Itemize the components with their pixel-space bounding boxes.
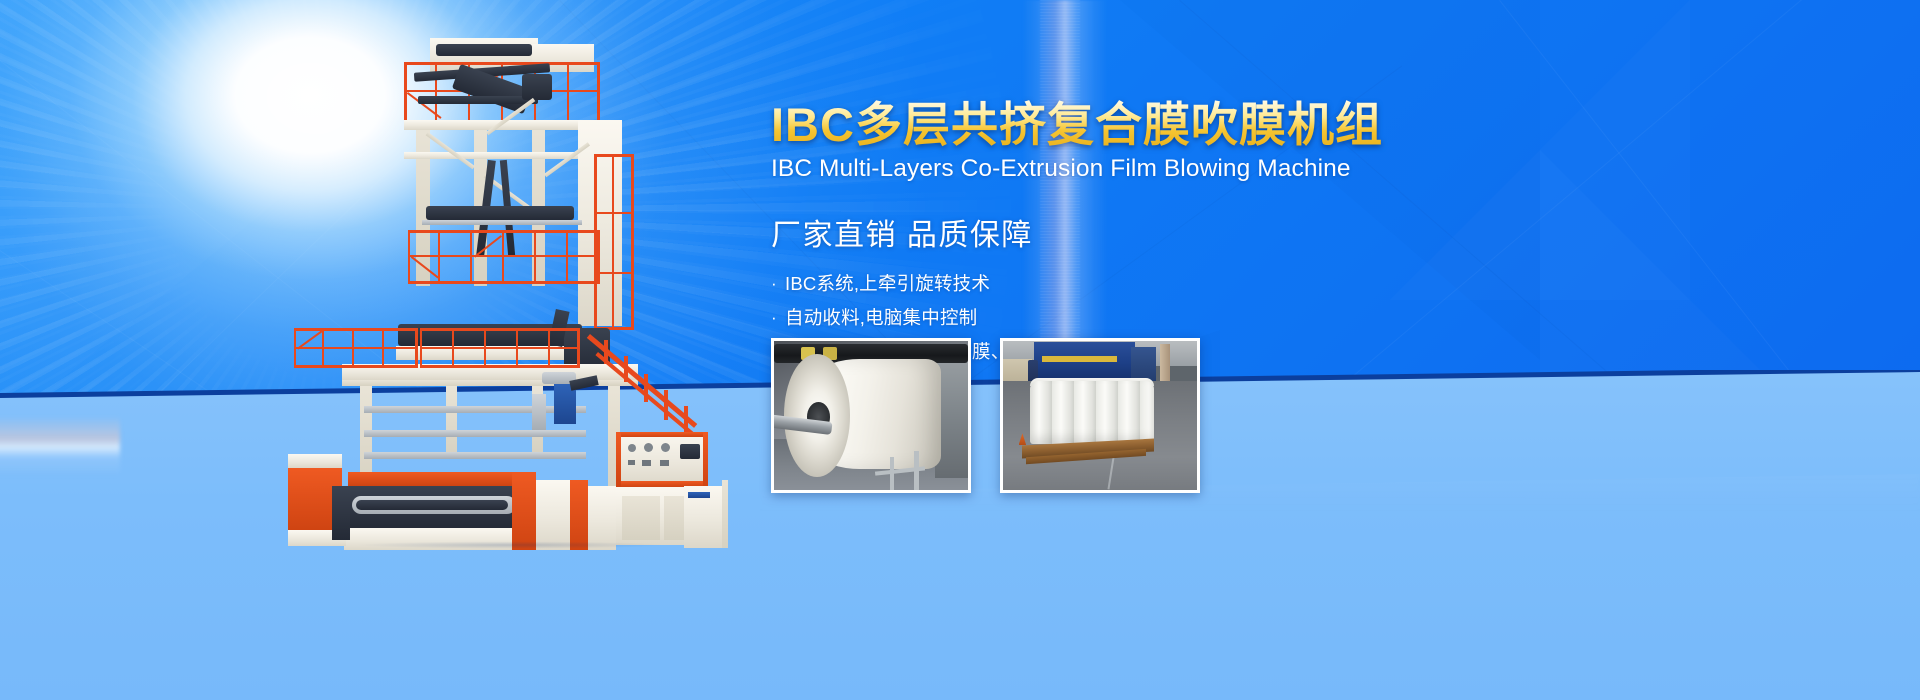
photo-film-rolls-pallet [1000, 338, 1200, 493]
feature-text: IBC系统,上牵引旋转技术 [785, 271, 990, 297]
light-streak-left [0, 416, 120, 476]
list-item: · IBC系统,上牵引旋转技术 [771, 271, 1411, 297]
promo-banner: IBC多层共挤复合膜吹膜机组 IBC Multi-Layers Co-Extru… [0, 0, 1920, 700]
bullet-dot-icon: · [771, 271, 785, 297]
banner-text-block: IBC多层共挤复合膜吹膜机组 IBC Multi-Layers Co-Extru… [771, 100, 1411, 373]
banner-title-en: IBC Multi-Layers Co-Extrusion Film Blowi… [771, 155, 1411, 183]
bullet-dot-icon: · [771, 305, 785, 331]
feature-text: 自动收料,电脑集中控制 [785, 305, 977, 331]
banner-tagline: 厂家直销 品质保障 [771, 210, 1411, 254]
photo-film-roll [771, 338, 971, 493]
banner-title-cn: IBC多层共挤复合膜吹膜机组 [771, 100, 1411, 150]
ibc-film-blowing-machine-image [286, 34, 726, 514]
list-item: · 自动收料,电脑集中控制 [771, 305, 1411, 331]
